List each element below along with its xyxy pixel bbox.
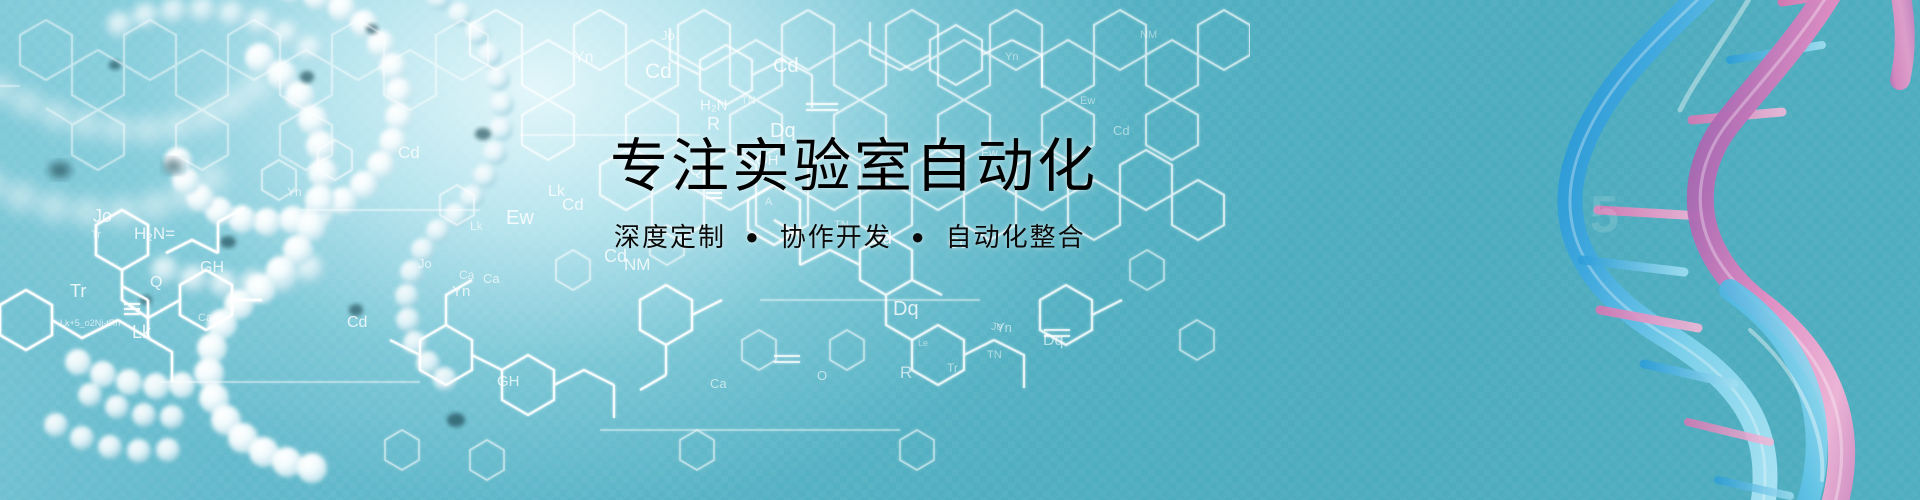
chemistry-label: R xyxy=(707,114,720,134)
chemistry-label: Ew xyxy=(506,207,534,229)
dna-beaded-helix-icon xyxy=(0,0,660,500)
chemistry-label: Cd xyxy=(347,314,367,331)
chemistry-label: Ca xyxy=(198,312,213,324)
chemistry-label: Tr xyxy=(70,281,86,301)
subtitle-item-3: 自动化整合 xyxy=(946,222,1086,252)
bullet-separator-icon: ● xyxy=(745,224,760,250)
chemistry-label: Yn xyxy=(1005,51,1018,63)
banner-text-block: 专注实验室自动化 深度定制 ● 协作开发 ● 自动化整合 xyxy=(610,136,1310,254)
chemistry-label: NM xyxy=(624,255,650,274)
chemistry-label: Tr xyxy=(91,229,101,241)
chemistry-label: Yn xyxy=(452,283,470,300)
chemistry-label: Yn xyxy=(287,185,302,199)
chemistry-label: Jo xyxy=(991,321,1003,333)
chemistry-label: Cd xyxy=(562,195,584,214)
chemistry-label: Jo xyxy=(418,256,432,271)
dna-ribbon-helix-icon: 5 MI xyxy=(1430,0,1920,500)
chemistry-label: Yn xyxy=(574,49,594,66)
chemistry-label: Cd xyxy=(773,55,799,77)
chemistry-label: Le xyxy=(918,338,928,348)
chemistry-label: Yn xyxy=(996,320,1012,335)
chemistry-label: GH xyxy=(200,259,224,276)
chemistry-label: Q xyxy=(150,274,162,291)
chemistry-label: Ca xyxy=(459,268,475,282)
chemistry-label: Jo xyxy=(661,28,675,43)
chemistry-label: Cd xyxy=(398,143,420,162)
chemistry-label: O xyxy=(817,368,827,383)
chemistry-label: H₂N= xyxy=(134,224,175,243)
chemistry-label: H₂N xyxy=(700,97,728,114)
subtitle-item-1: 深度定制 xyxy=(614,222,726,252)
chemistry-label: Jo xyxy=(93,206,112,226)
chemistry-label: TN xyxy=(741,95,756,107)
chemistry-label: Lk xyxy=(548,183,566,200)
chemistry-label: Ew xyxy=(1080,95,1095,107)
page-title: 专注实验室自动化 xyxy=(610,136,1310,197)
chemistry-label: Dq xyxy=(1043,332,1063,349)
subtitle-item-2: 协作开发 xyxy=(780,222,892,252)
chemistry-label: Tr xyxy=(947,361,958,375)
chemistry-label: NM xyxy=(1140,29,1157,41)
chemistry-label: Lk xyxy=(132,322,152,342)
chemistry-label: Dq xyxy=(893,298,919,320)
chemistry-label: Lk xyxy=(470,219,484,233)
chemistry-label: TN xyxy=(987,349,1002,361)
svg-text:5: 5 xyxy=(1590,186,1619,244)
chemistry-label: Cd xyxy=(645,60,672,83)
chemistry-label: Lk+5_o2Nj-tRn xyxy=(60,318,120,328)
bullet-separator-icon: ● xyxy=(911,224,926,250)
chemistry-label: Ca xyxy=(710,376,727,391)
chemistry-label: GH xyxy=(497,373,520,390)
chemistry-label: Ca xyxy=(483,271,500,286)
banner-subtitle: 深度定制 ● 协作开发 ● 自动化整合 xyxy=(614,217,1310,254)
chemistry-label: R xyxy=(900,363,912,382)
hero-banner: CdJoYnH₂NRDqCdTNOHQLkCdEwJoYnNMCdLkGHH₂N… xyxy=(0,0,1920,500)
